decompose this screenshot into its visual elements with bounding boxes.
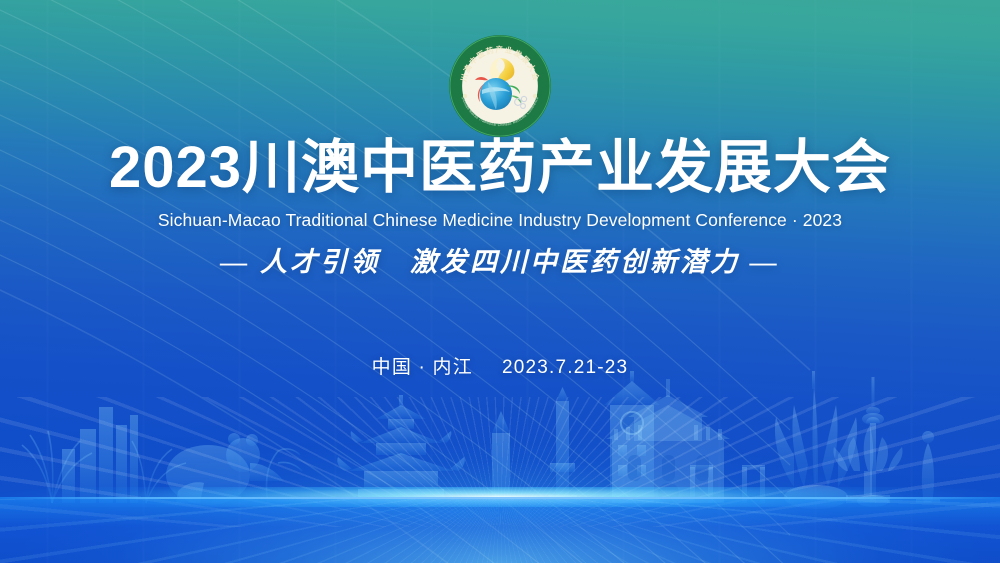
page-title: 2023川澳中医药产业发展大会 bbox=[0, 139, 1000, 197]
light-ray-fan bbox=[0, 397, 1000, 527]
conference-slogan: — 人才引领 激发四川中医药创新潜力 — bbox=[0, 246, 1000, 278]
lotus-sculpture-silhouette bbox=[834, 425, 903, 503]
skyline-right-macao bbox=[690, 371, 940, 509]
horizon-glow bbox=[0, 393, 1000, 563]
skyline-left-sichuan bbox=[22, 371, 660, 505]
arc-line-texture bbox=[0, 0, 830, 563]
page-subtitle-english: Sichuan-Macao Traditional Chinese Medici… bbox=[0, 212, 1000, 230]
event-meta: 中国 · 内江 2023.7.21-23 bbox=[0, 358, 1000, 377]
pagoda-silhouette bbox=[337, 395, 465, 503]
conference-banner: 川澳中医药产业发展大会 Sichuan-Macao Traditional Ch… bbox=[0, 0, 1000, 563]
macau-tower-silhouette bbox=[857, 377, 889, 507]
horizon-light-band bbox=[0, 487, 1000, 507]
perspective-grid-floor bbox=[0, 499, 1000, 563]
conference-logo: 川澳中医药产业发展大会 Sichuan-Macao Traditional Ch… bbox=[448, 34, 552, 138]
horizon-core-line bbox=[0, 497, 1000, 499]
city-skyline-silhouette-far-right bbox=[0, 371, 1000, 511]
foreground-reflection bbox=[0, 497, 1000, 563]
city-skyline-silhouette bbox=[0, 371, 1000, 511]
event-dates: 2023.7.21-23 bbox=[502, 357, 628, 378]
clock-tower-silhouette bbox=[604, 371, 660, 503]
ruins-of-st-pauls-silhouette bbox=[606, 379, 730, 503]
grand-lisboa-silhouette bbox=[775, 371, 857, 509]
event-location: 中国 · 内江 bbox=[372, 357, 473, 378]
